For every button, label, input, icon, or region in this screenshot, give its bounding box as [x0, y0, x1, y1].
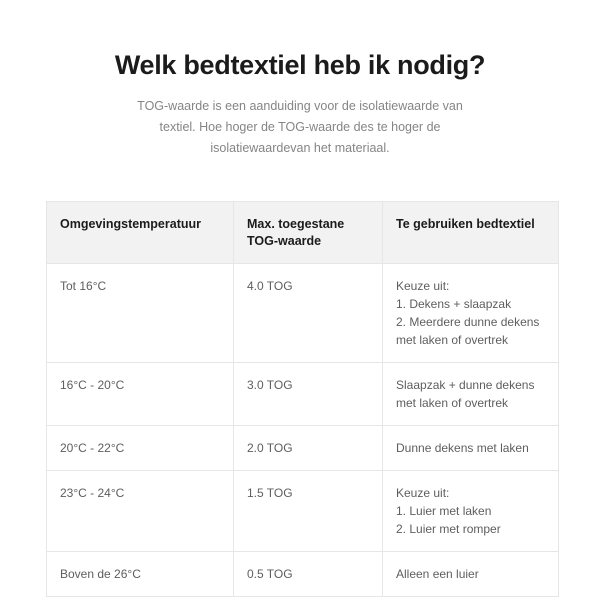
bedtextiel-line: 2. Luier met romper [396, 520, 544, 538]
cell-tog-value: 4.0 TOG [234, 264, 383, 363]
bedtextiel-line: 1. Dekens + slaapzak [396, 295, 544, 313]
column-header-tog-waarde: Max. toegestane TOG-waarde [234, 202, 383, 264]
page-root: Welk bedtextiel heb ik nodig? TOG-waarde… [0, 0, 600, 600]
table-header-row: Omgevingstemperatuur Max. toegestane TOG… [47, 202, 559, 264]
bedtextiel-line: 2. Meerdere dunne dekens [396, 313, 544, 331]
cell-temperature: Tot 16°C [47, 264, 234, 363]
bedtextiel-lines: Dunne dekens met laken [396, 439, 544, 457]
cell-bedtextiel: Alleen een luier [383, 552, 559, 597]
cell-temperature: 20°C - 22°C [47, 426, 234, 471]
cell-temperature: Boven de 26°C [47, 552, 234, 597]
bedtextiel-lines: Keuze uit: 1. Dekens + slaapzak 2. Meerd… [396, 277, 544, 349]
bedtextiel-line: Keuze uit: [396, 484, 544, 502]
table-row: Tot 16°C 4.0 TOG Keuze uit: 1. Dekens + … [47, 264, 559, 363]
table-header: Omgevingstemperatuur Max. toegestane TOG… [47, 202, 559, 264]
bedtextiel-line: Keuze uit: [396, 277, 544, 295]
page-subtitle: TOG-waarde is een aanduiding voor de iso… [135, 96, 465, 159]
cell-tog-value: 2.0 TOG [234, 426, 383, 471]
bedtextiel-lines: Slaapzak + dunne dekens met laken of ove… [396, 376, 544, 412]
cell-temperature: 16°C - 20°C [47, 363, 234, 426]
table-row: Boven de 26°C 0.5 TOG Alleen een luier [47, 552, 559, 597]
cell-tog-value: 0.5 TOG [234, 552, 383, 597]
cell-tog-value: 1.5 TOG [234, 471, 383, 552]
page-title: Welk bedtextiel heb ik nodig? [0, 48, 600, 82]
header-block: Welk bedtextiel heb ik nodig? TOG-waarde… [0, 48, 600, 159]
column-header-omgevingstemperatuur: Omgevingstemperatuur [47, 202, 234, 264]
column-header-bedtextiel: Te gebruiken bedtextiel [383, 202, 559, 264]
cell-bedtextiel: Keuze uit: 1. Dekens + slaapzak 2. Meerd… [383, 264, 559, 363]
cell-bedtextiel: Keuze uit: 1. Luier met laken 2. Luier m… [383, 471, 559, 552]
tog-table: Omgevingstemperatuur Max. toegestane TOG… [46, 201, 559, 597]
table-row: 23°C - 24°C 1.5 TOG Keuze uit: 1. Luier … [47, 471, 559, 552]
bedtextiel-line: Slaapzak + dunne dekens [396, 376, 544, 394]
cell-bedtextiel: Slaapzak + dunne dekens met laken of ove… [383, 363, 559, 426]
tog-table-container: Omgevingstemperatuur Max. toegestane TOG… [46, 201, 558, 597]
bedtextiel-line: Alleen een luier [396, 565, 544, 583]
bedtextiel-lines: Alleen een luier [396, 565, 544, 583]
bedtextiel-line: Dunne dekens met laken [396, 439, 544, 457]
bedtextiel-lines: Keuze uit: 1. Luier met laken 2. Luier m… [396, 484, 544, 538]
cell-bedtextiel: Dunne dekens met laken [383, 426, 559, 471]
bedtextiel-line: 1. Luier met laken [396, 502, 544, 520]
cell-tog-value: 3.0 TOG [234, 363, 383, 426]
table-row: 16°C - 20°C 3.0 TOG Slaapzak + dunne dek… [47, 363, 559, 426]
cell-temperature: 23°C - 24°C [47, 471, 234, 552]
bedtextiel-line: met laken of overtrek [396, 331, 544, 349]
table-row: 20°C - 22°C 2.0 TOG Dunne dekens met lak… [47, 426, 559, 471]
bedtextiel-line: met laken of overtrek [396, 394, 544, 412]
table-body: Tot 16°C 4.0 TOG Keuze uit: 1. Dekens + … [47, 264, 559, 597]
